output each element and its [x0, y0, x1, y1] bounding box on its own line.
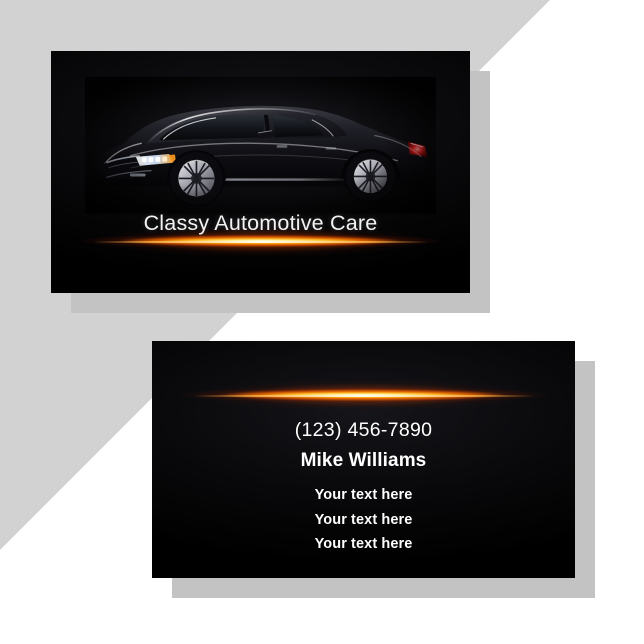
placeholder-line-1: Your text here	[152, 483, 575, 508]
contact-name: Mike Williams	[152, 450, 575, 472]
front-card-title: Classy Automotive Care	[51, 211, 470, 236]
back-business-card[interactable]: (123) 456-7890 Mike Williams Your text h…	[152, 341, 575, 578]
placeholder-line-3: Your text here	[152, 532, 575, 557]
sedan-car-image	[85, 75, 437, 215]
back-card-text-block: (123) 456-7890 Mike Williams Your text h…	[152, 419, 575, 557]
front-business-card[interactable]: Classy Automotive Care	[51, 51, 470, 293]
placeholder-line-2: Your text here	[152, 508, 575, 533]
business-card-preview: Classy Automotive Care (123) 456-7890 Mi…	[0, 0, 644, 644]
phone-number: (123) 456-7890	[152, 419, 575, 442]
